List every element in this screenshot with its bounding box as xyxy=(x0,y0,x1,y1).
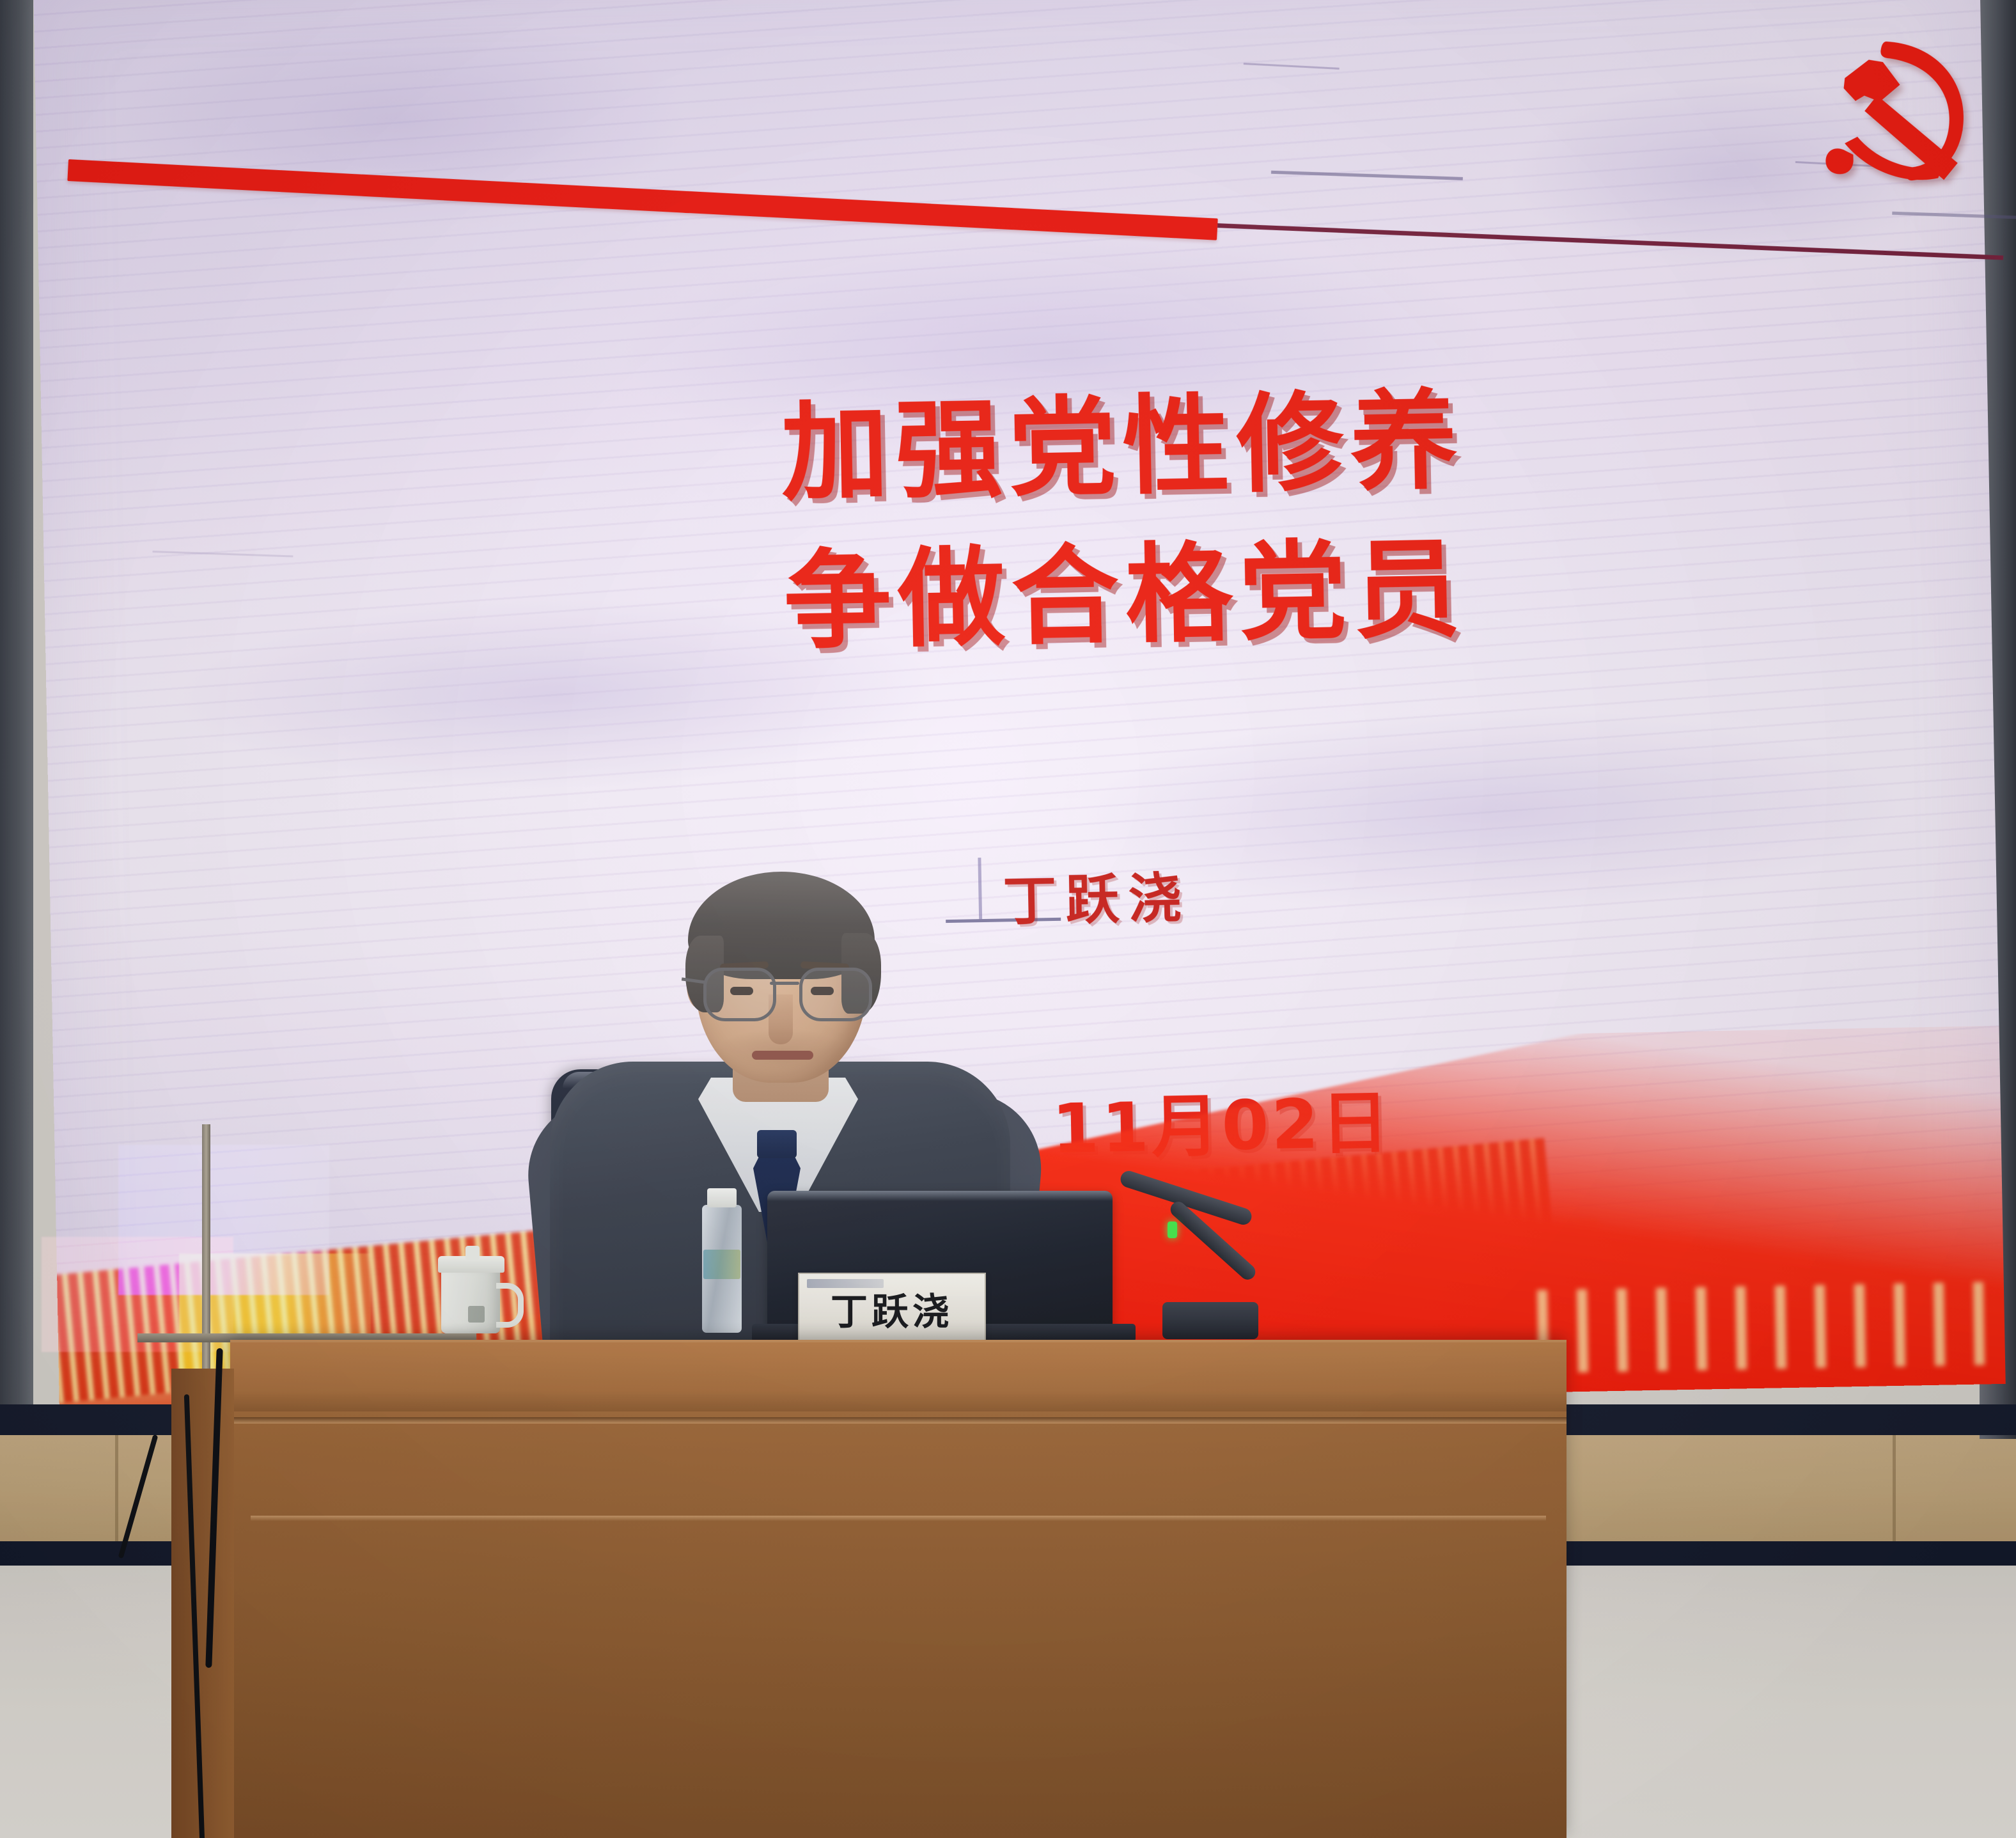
mouth xyxy=(752,1051,813,1060)
necktie-knot xyxy=(757,1130,797,1158)
podium-groove xyxy=(230,1417,1567,1424)
cpc-hammer-sickle-emblem xyxy=(1804,22,1999,198)
podium-side-left xyxy=(171,1369,234,1838)
glasses-bridge xyxy=(770,982,799,985)
slide-title-line2: 争做合格党员 xyxy=(708,514,1542,678)
eyeglasses xyxy=(701,968,868,1017)
desk-nameplate: 丁跃浇 xyxy=(798,1273,986,1344)
lens-right xyxy=(799,968,872,1021)
water-bottle xyxy=(702,1188,742,1333)
glare-bar-vertical xyxy=(202,1124,210,1399)
microphone xyxy=(1100,1190,1266,1349)
podium-top-lip xyxy=(230,1340,1567,1411)
lens-left xyxy=(703,968,776,1021)
teacup xyxy=(441,1247,512,1333)
podium xyxy=(230,1340,1567,1838)
slide-title-line1: 加强党性修养 xyxy=(780,378,1465,516)
desk-nameplate-name: 丁跃浇 xyxy=(799,1293,985,1330)
led-screen-frame-left xyxy=(0,0,33,1433)
microphone-status-led xyxy=(1168,1221,1177,1238)
laptop-screen-edge xyxy=(767,1191,1113,1201)
organization-logo-icon xyxy=(807,1279,884,1288)
slide-speaker-name: 丁跃浇 xyxy=(1002,855,1191,936)
podium-rail xyxy=(251,1516,1546,1521)
presentation-scene: 加强党性修养 争做合格党员 丁跃浇 11月02日 xyxy=(0,0,2016,1838)
slide-title: 加强党性修养 争做合格党员 xyxy=(706,366,1542,677)
